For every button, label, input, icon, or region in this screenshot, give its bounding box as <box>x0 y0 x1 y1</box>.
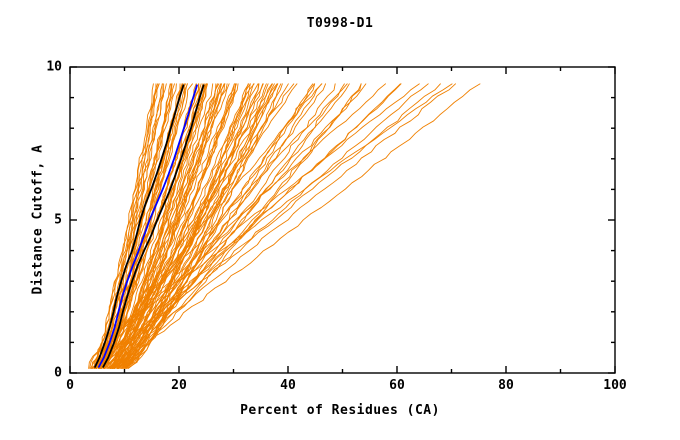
x-tick-label: 0 <box>66 378 74 393</box>
plot-area <box>0 0 680 440</box>
x-tick-label: 40 <box>280 378 296 393</box>
x-tick-label: 80 <box>498 378 514 393</box>
y-tick-label: 10 <box>34 60 62 75</box>
x-tick-label: 100 <box>603 378 626 393</box>
y-tick-label: 5 <box>34 213 62 228</box>
x-tick-label: 60 <box>389 378 405 393</box>
y-tick-label: 0 <box>34 366 62 381</box>
x-tick-label: 20 <box>171 378 187 393</box>
chart-figure: T0998-D1 Distance Cutoff, A Percent of R… <box>0 0 680 440</box>
